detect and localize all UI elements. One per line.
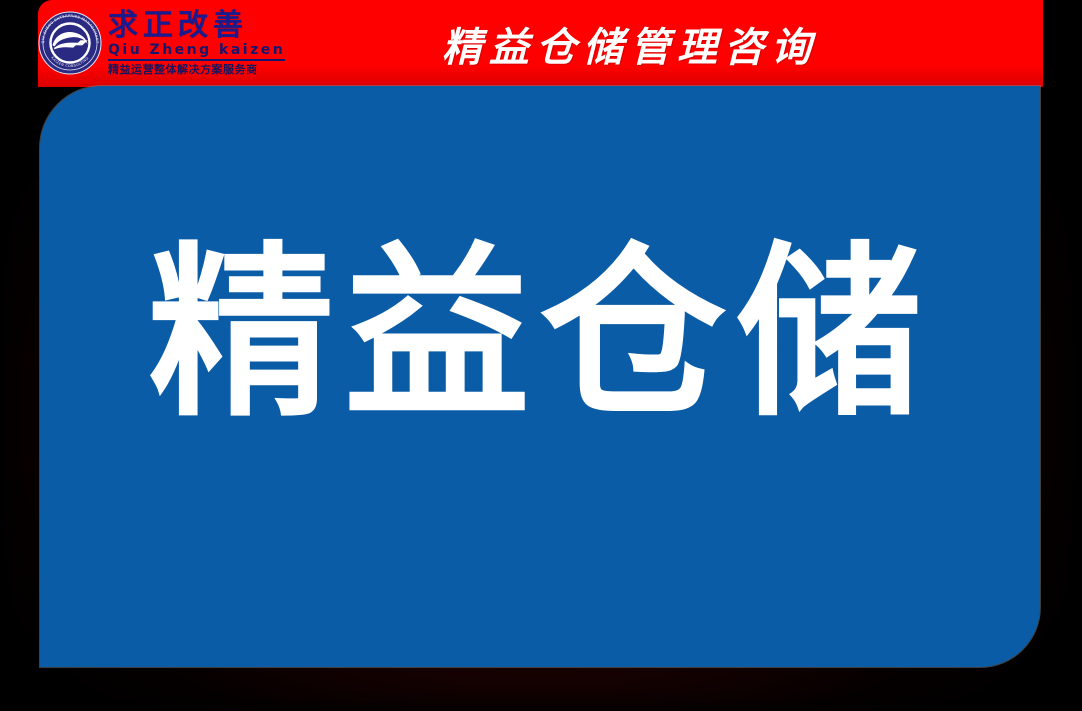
logo-text-block: 求正改善 Qiu Zheng kaizen 精益运营整体解决方案服务商 <box>108 11 285 75</box>
logo-company-name-cn: 求正改善 <box>108 11 248 41</box>
presentation-slide: QIU ZHENG ENTERPRISE MANAGEMENT KAIZEN C… <box>0 0 1082 711</box>
slide-main-title: 精益仓储 <box>40 236 1040 431</box>
logo-tagline: 精益运营整体解决方案服务商 <box>108 64 258 75</box>
company-emblem-icon: QIU ZHENG ENTERPRISE MANAGEMENT KAIZEN C… <box>38 11 102 75</box>
company-logo-lockup: QIU ZHENG ENTERPRISE MANAGEMENT KAIZEN C… <box>38 4 285 82</box>
content-panel: 精益仓储 <box>40 86 1040 667</box>
header-title: 精益仓储管理咨询 <box>330 0 930 87</box>
logo-company-pinyin: Qiu Zheng kaizen <box>108 43 285 61</box>
